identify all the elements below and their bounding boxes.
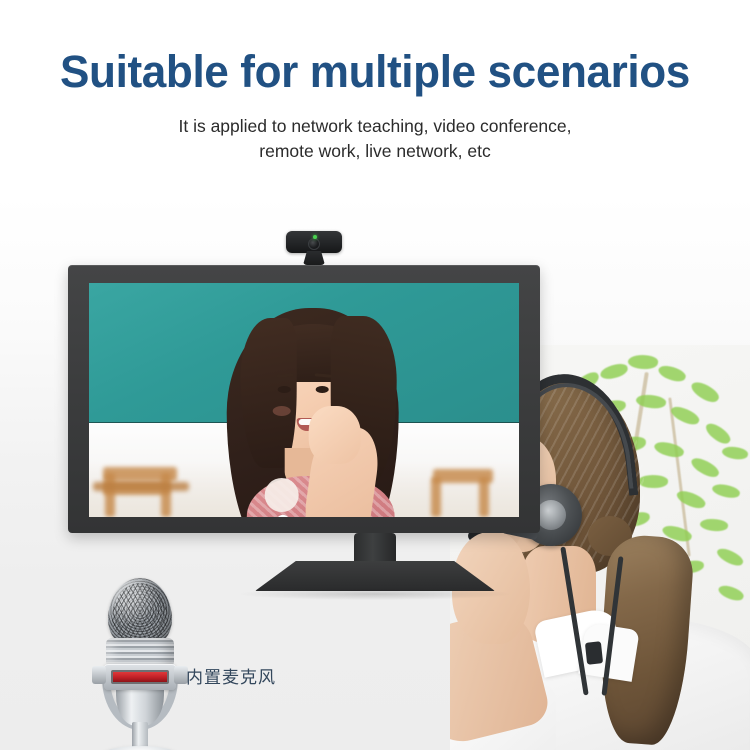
girl-on-screen: [212, 302, 444, 517]
header: Suitable for multiple scenarios It is ap…: [0, 0, 750, 164]
microphone-mesh-grille: [112, 583, 168, 645]
camera-lens-icon: [308, 238, 320, 250]
subtitle-line-2: remote work, live network, etc: [0, 139, 750, 164]
page-title: Suitable for multiple scenarios: [8, 48, 743, 97]
chair-leg: [105, 473, 115, 517]
monitor: [68, 265, 540, 533]
microphone-knob-left: [92, 666, 106, 684]
monitor-shadow: [240, 588, 510, 600]
headset-earcup-center: [536, 500, 566, 530]
chair-leg: [479, 477, 489, 517]
girl-hand: [308, 406, 360, 464]
girl-hair-left: [240, 318, 296, 468]
subtitle-line-1: It is applied to network teaching, video…: [178, 116, 571, 136]
girl-lace-collar: [264, 478, 298, 512]
page-subtitle: It is applied to network teaching, video…: [0, 114, 750, 165]
girl-eye-left: [277, 386, 290, 393]
headset-cable-clip: [585, 641, 603, 665]
girl-cheek-left: [272, 406, 290, 416]
desk-plank: [93, 482, 189, 491]
promo-page: Suitable for multiple scenarios It is ap…: [0, 0, 750, 750]
webcam-device: [286, 231, 342, 267]
microphone-base: [102, 746, 178, 750]
microphone-caption: 内置麦克风: [186, 663, 276, 688]
microphone-ribs: [106, 638, 174, 666]
led-indicator-icon: [313, 235, 317, 239]
girl-eye-right: [315, 386, 328, 393]
webcam-mount-clip: [303, 251, 325, 265]
monitor-screen: [89, 283, 519, 517]
microphone-icon: [88, 578, 192, 738]
chair-leg: [161, 473, 171, 517]
monitor-stand-base: [255, 561, 495, 591]
microphone-red-accent: [111, 670, 169, 684]
